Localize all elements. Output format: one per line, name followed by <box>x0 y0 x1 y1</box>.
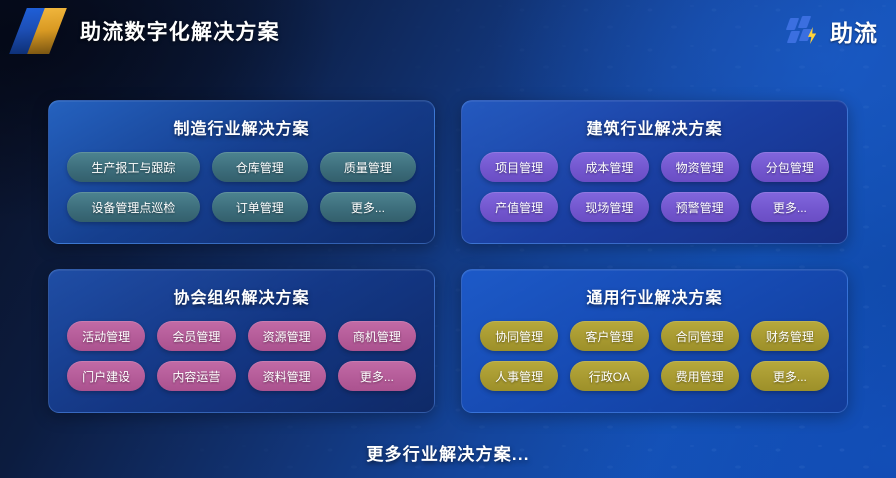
solution-pill[interactable]: 产值管理 <box>480 192 558 222</box>
solution-card-construction[interactable]: 建筑行业解决方案 项目管理 成本管理 物资管理 分包管理 产值管理 现场管理 预… <box>461 100 848 244</box>
brand-left[interactable]: 助流数字化解决方案 <box>0 8 280 54</box>
solution-pill[interactable]: 设备管理点巡检 <box>67 192 200 222</box>
logo-tile-3 <box>787 31 800 43</box>
solution-pill[interactable]: 项目管理 <box>480 152 558 182</box>
solution-pill[interactable]: 质量管理 <box>320 152 416 182</box>
solution-pill[interactable]: 门户建设 <box>67 361 145 391</box>
pill-grid: 生产报工与跟踪 仓库管理 质量管理 设备管理点巡检 订单管理 更多... <box>67 152 416 229</box>
solution-pill[interactable]: 内容运营 <box>157 361 235 391</box>
solution-card-manufacturing[interactable]: 制造行业解决方案 生产报工与跟踪 仓库管理 质量管理 设备管理点巡检 订单管理 … <box>48 100 435 244</box>
solution-pill[interactable]: 资料管理 <box>248 361 326 391</box>
brand-right[interactable]: 助流 <box>788 14 896 48</box>
card-title: 建筑行业解决方案 <box>480 115 829 139</box>
solution-card-association[interactable]: 协会组织解决方案 活动管理 会员管理 资源管理 商机管理 门户建设 内容运营 资… <box>48 269 435 413</box>
logo-tile-1 <box>786 18 799 30</box>
solution-pill[interactable]: 分包管理 <box>751 152 829 182</box>
solution-pill[interactable]: 会员管理 <box>157 321 235 351</box>
solution-pill[interactable]: 资源管理 <box>248 321 326 351</box>
pill-grid: 项目管理 成本管理 物资管理 分包管理 产值管理 现场管理 预警管理 更多... <box>480 152 829 229</box>
solution-pill[interactable]: 行政OA <box>570 361 648 391</box>
solution-pill[interactable]: 预警管理 <box>661 192 739 222</box>
zhuliu-slash-logo-icon <box>14 8 66 54</box>
card-title: 通用行业解决方案 <box>480 284 829 308</box>
card-title: 制造行业解决方案 <box>67 115 416 139</box>
page-header: 助流数字化解决方案 助流 <box>0 0 896 62</box>
solution-cards-grid: 制造行业解决方案 生产报工与跟踪 仓库管理 质量管理 设备管理点巡检 订单管理 … <box>48 100 848 413</box>
footer-more-solutions-text[interactable]: 更多行业解决方案... <box>366 445 529 464</box>
solution-pill[interactable]: 活动管理 <box>67 321 145 351</box>
solution-pill-more[interactable]: 更多... <box>751 361 829 391</box>
card-title: 协会组织解决方案 <box>67 284 416 308</box>
pill-grid: 活动管理 会员管理 资源管理 商机管理 门户建设 内容运营 资料管理 更多... <box>67 321 416 398</box>
zhuliu-bolt-logo-icon <box>788 16 822 46</box>
solution-pill[interactable]: 成本管理 <box>570 152 648 182</box>
logo-tile-2 <box>798 16 811 28</box>
solution-pill-more[interactable]: 更多... <box>338 361 416 391</box>
solution-pill[interactable]: 费用管理 <box>661 361 739 391</box>
solution-card-general[interactable]: 通用行业解决方案 协同管理 客户管理 合同管理 财务管理 人事管理 行政OA 费… <box>461 269 848 413</box>
solution-pill-more[interactable]: 更多... <box>320 192 416 222</box>
page-footer: 更多行业解决方案... <box>0 440 896 465</box>
solution-pill[interactable]: 订单管理 <box>212 192 308 222</box>
pill-grid: 协同管理 客户管理 合同管理 财务管理 人事管理 行政OA 费用管理 更多... <box>480 321 829 398</box>
solution-pill[interactable]: 生产报工与跟踪 <box>67 152 200 182</box>
solution-pill[interactable]: 财务管理 <box>751 321 829 351</box>
solution-pill[interactable]: 协同管理 <box>480 321 558 351</box>
solution-pill[interactable]: 人事管理 <box>480 361 558 391</box>
solution-pill-more[interactable]: 更多... <box>751 192 829 222</box>
solution-pill[interactable]: 合同管理 <box>661 321 739 351</box>
page-title: 助流数字化解决方案 <box>80 16 280 46</box>
solution-pill[interactable]: 仓库管理 <box>212 152 308 182</box>
solution-pill[interactable]: 客户管理 <box>570 321 648 351</box>
solution-pill[interactable]: 物资管理 <box>661 152 739 182</box>
solution-pill[interactable]: 现场管理 <box>570 192 648 222</box>
brand-name: 助流 <box>830 14 878 48</box>
solution-pill[interactable]: 商机管理 <box>338 321 416 351</box>
